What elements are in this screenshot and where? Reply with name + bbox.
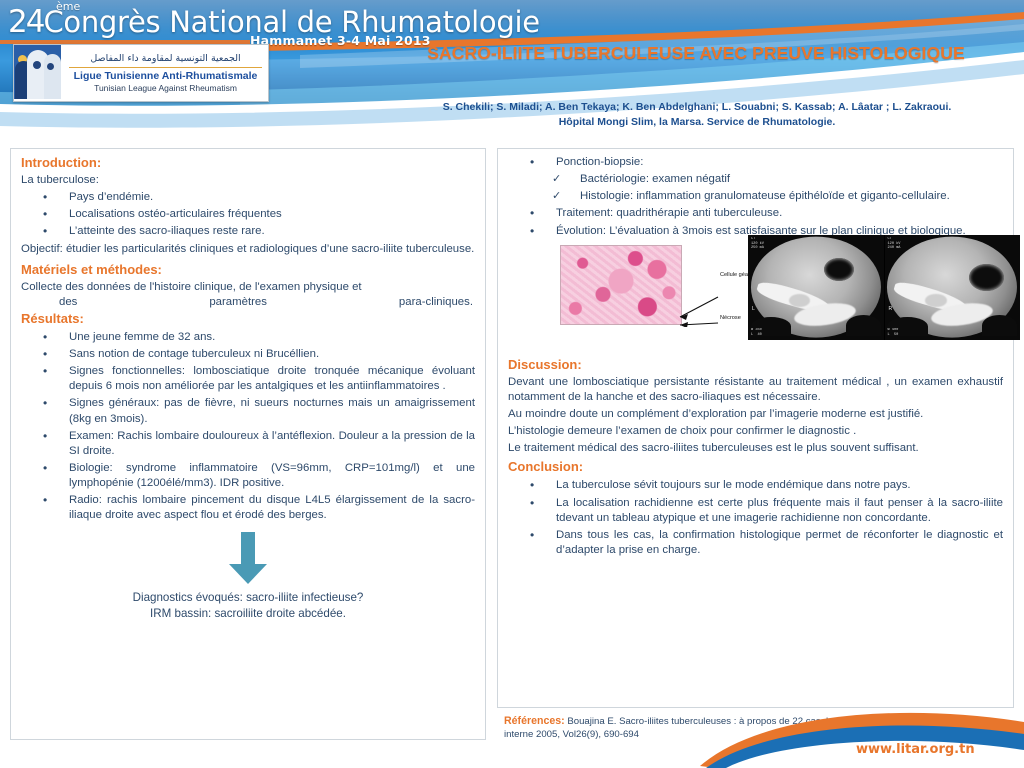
right-content-panel: Ponction-biopsie: Bactériologie: examen … — [497, 148, 1014, 708]
list-item: Radio: rachis lombaire pincement du disq… — [21, 493, 475, 523]
ct-right-side-marker: R — [889, 306, 893, 312]
litar-logo-mark-icon — [14, 45, 61, 99]
left-content-panel: Introduction: La tuberculose: Pays d’end… — [10, 148, 486, 740]
poster-title: SACRO-ILIITE TUBERCULEUSE AVEC PREUVE HI… — [372, 42, 1020, 65]
logo-arabic-name: الجمعية التونسية لمقاومة داء المفاصل — [67, 53, 264, 65]
litar-logo: الجمعية التونسية لمقاومة داء المفاصل Lig… — [13, 44, 269, 102]
biopsy-sub-list: Bactériologie: examen négatif Histologie… — [508, 172, 1003, 204]
list-item: Sans notion de contage tuberculeux ni Br… — [21, 347, 475, 362]
discussion-paragraph-2: Au moindre doute un complément d’explora… — [508, 407, 1003, 422]
histology-label-text-2: Nécrose — [720, 315, 741, 321]
section-heading-introduction: Introduction: — [21, 155, 475, 172]
list-item: La localisation rachidienne est certe pl… — [508, 496, 1003, 526]
section-heading-discussion: Discussion: — [508, 357, 1003, 374]
discussion-paragraph-1: Devant une lombosciatique persistante ré… — [508, 375, 1003, 405]
list-item: Signes généraux: pas de fièvre, ni sueur… — [21, 396, 475, 426]
affiliation-line: Hôpital Mongi Slim, la Marsa. Service de… — [372, 115, 1022, 130]
histology-label-necrose: Nécrose — [720, 315, 741, 322]
ct-left-side-marker: L — [752, 306, 755, 312]
poster-root: 24Congrès National de Rhumatologie ème H… — [0, 0, 1024, 768]
list-item: Examen: Rachis lombaire douloureux à l’a… — [21, 429, 475, 459]
methods-word-2: paramètres — [209, 295, 267, 310]
introduction-objective-text: Objectif: étudier les particularités cli… — [21, 242, 475, 257]
ct-scan-left: CT 120 kV 250 mA W 350 L 40 L — [748, 235, 884, 340]
histology-annotation-arrows — [678, 277, 758, 327]
introduction-bullet-list: Pays d’endémie. Localisations ostéo-arti… — [21, 190, 475, 239]
authors-line: S. Chekili; S. Miladi; A. Ben Tekaya; K.… — [372, 100, 1022, 115]
image-row: Cellule géante Nécrose CT 120 kV 250 mA … — [508, 245, 1003, 355]
ct-right-hud-topleft: CT 120 kV 240 mA — [888, 237, 901, 252]
section-heading-methods: Matériels et méthodes: — [21, 262, 475, 279]
diagnosis-line-2: IRM bassin: sacroiliite droite abcédée. — [21, 606, 475, 623]
biopsy-bullet-list: Ponction-biopsie: — [508, 155, 1003, 170]
poster-header: 24Congrès National de Rhumatologie ème H… — [0, 0, 1024, 145]
references-label: Références: — [504, 715, 565, 727]
list-item: Signes fonctionnelles: lombosciatique dr… — [21, 364, 475, 394]
methods-line-1: Collecte des données de l'histoire clini… — [21, 281, 362, 293]
ct-right-hud-bottomleft: W 400 L 50 — [888, 328, 899, 338]
methods-word-1: des — [59, 295, 77, 310]
list-item: Histologie: inflammation granulomateuse … — [508, 189, 1003, 204]
results-bullet-list: Une jeune femme de 32 ans. Sans notion d… — [21, 330, 475, 524]
diagnosis-line-1: Diagnostics évoqués: sacro-iliite infect… — [21, 590, 475, 607]
list-item: La tuberculose sévit toujours sur le mod… — [508, 478, 1003, 493]
down-arrow-graphic — [21, 532, 475, 586]
list-item: Bactériologie: examen négatif — [508, 172, 1003, 187]
footer-swoosh-graphic — [700, 700, 1024, 768]
ct-scan-right: CT 120 kV 240 mA W 400 L 50 R — [885, 235, 1021, 340]
discussion-paragraph-4: Le traitement médical des sacro-iliites … — [508, 441, 1003, 456]
poster-authors-affiliation: S. Chekili; S. Miladi; A. Ben Tekaya; K.… — [372, 100, 1022, 130]
ct-left-hud-topleft: CT 120 kV 250 mA — [751, 237, 764, 252]
introduction-objective: Objectif: étudier les particularités cli… — [21, 242, 475, 257]
list-item: Biologie: syndrome inflammatoire (VS=96m… — [21, 461, 475, 491]
list-item: Ponction-biopsie: — [508, 155, 1003, 170]
methods-word-3: para-cliniques. — [399, 295, 473, 310]
list-item: Dans tous les cas, la confirmation histo… — [508, 528, 1003, 558]
list-item: Localisations ostéo-articulaires fréquen… — [21, 207, 475, 222]
section-heading-conclusion: Conclusion: — [508, 459, 1003, 476]
website-url: www.litar.org.tn — [856, 742, 975, 757]
discussion-paragraph-3: L’histologie demeure l’examen de choix p… — [508, 424, 1003, 439]
introduction-lead: La tuberculose: — [21, 173, 475, 188]
list-item: Pays d’endémie. — [21, 190, 475, 205]
congress-number: 24 — [8, 4, 43, 40]
methods-text: Collecte des données de l'histoire clini… — [21, 280, 475, 310]
histology-photomicrograph — [560, 245, 682, 325]
ct-left-hud-bottomleft: W 350 L 40 — [751, 328, 762, 338]
logo-divider — [69, 67, 262, 68]
section-heading-results: Résultats: — [21, 311, 475, 328]
ct-scan-pair: CT 120 kV 250 mA W 350 L 40 L CT 120 kV … — [748, 235, 1020, 340]
arrow-down-icon — [226, 532, 270, 586]
logo-french-name: Ligue Tunisienne Anti-Rhumatismale — [67, 70, 264, 83]
list-item: Une jeune femme de 32 ans. — [21, 330, 475, 345]
logo-english-name: Tunisian League Against Rheumatism — [67, 83, 264, 94]
list-item: L’atteinte des sacro-iliaques reste rare… — [21, 224, 475, 239]
list-item: Traitement: quadrithérapie anti tubercul… — [508, 206, 1003, 221]
congress-ordinal-suffix: ème — [56, 0, 80, 13]
conclusion-bullet-list: La tuberculose sévit toujours sur le mod… — [508, 478, 1003, 558]
